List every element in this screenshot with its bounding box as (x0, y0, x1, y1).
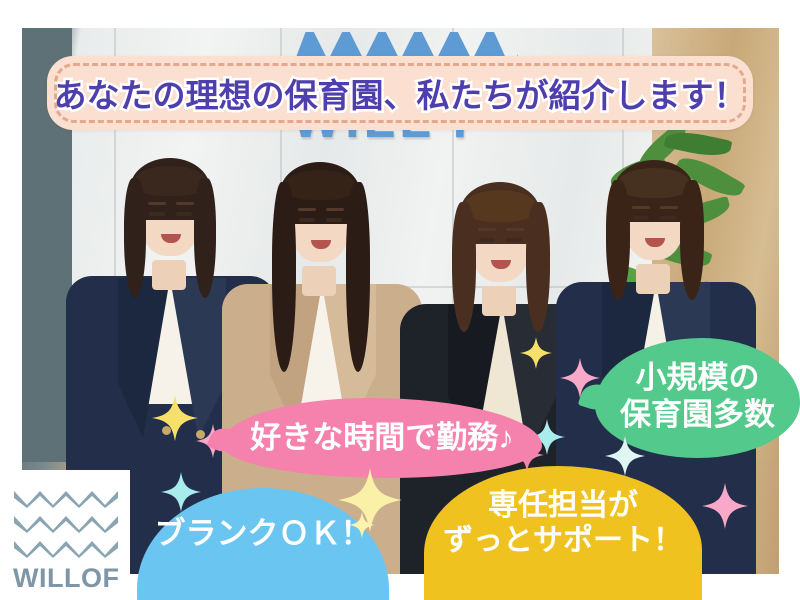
zigzag-row-2-icon (14, 513, 118, 533)
sparkle-1-icon (152, 395, 198, 441)
willof-brand-text: WILLOF (13, 563, 119, 594)
sparkle-9-icon (605, 436, 645, 476)
sparkle-4-icon (520, 337, 552, 369)
bubble-blank-ok-text: ブランクＯＫ！ (155, 516, 372, 553)
bubble-dedicated-support-text: 専任担当が ずっとサポート！ (443, 488, 683, 559)
bubble-flexible-hours-text: 好きな時間で勤務♪ (250, 420, 514, 457)
zigzag-row-1-icon (14, 488, 118, 508)
poster-canvas: WILL F (0, 0, 800, 600)
zigzag-row-3-icon (14, 538, 118, 558)
headline-banner: あなたの理想の保育園、私たちが紹介します！ (47, 56, 753, 130)
willof-logo-card: WILLOF (0, 470, 130, 600)
sparkle-11-icon (349, 512, 375, 538)
bubble-small-nurseries-text: 小規模の 保育園多数 (620, 360, 775, 433)
headline-text: あなたの理想の保育園、私たちが紹介します！ (47, 56, 753, 130)
sparkle-10-icon (702, 483, 748, 529)
